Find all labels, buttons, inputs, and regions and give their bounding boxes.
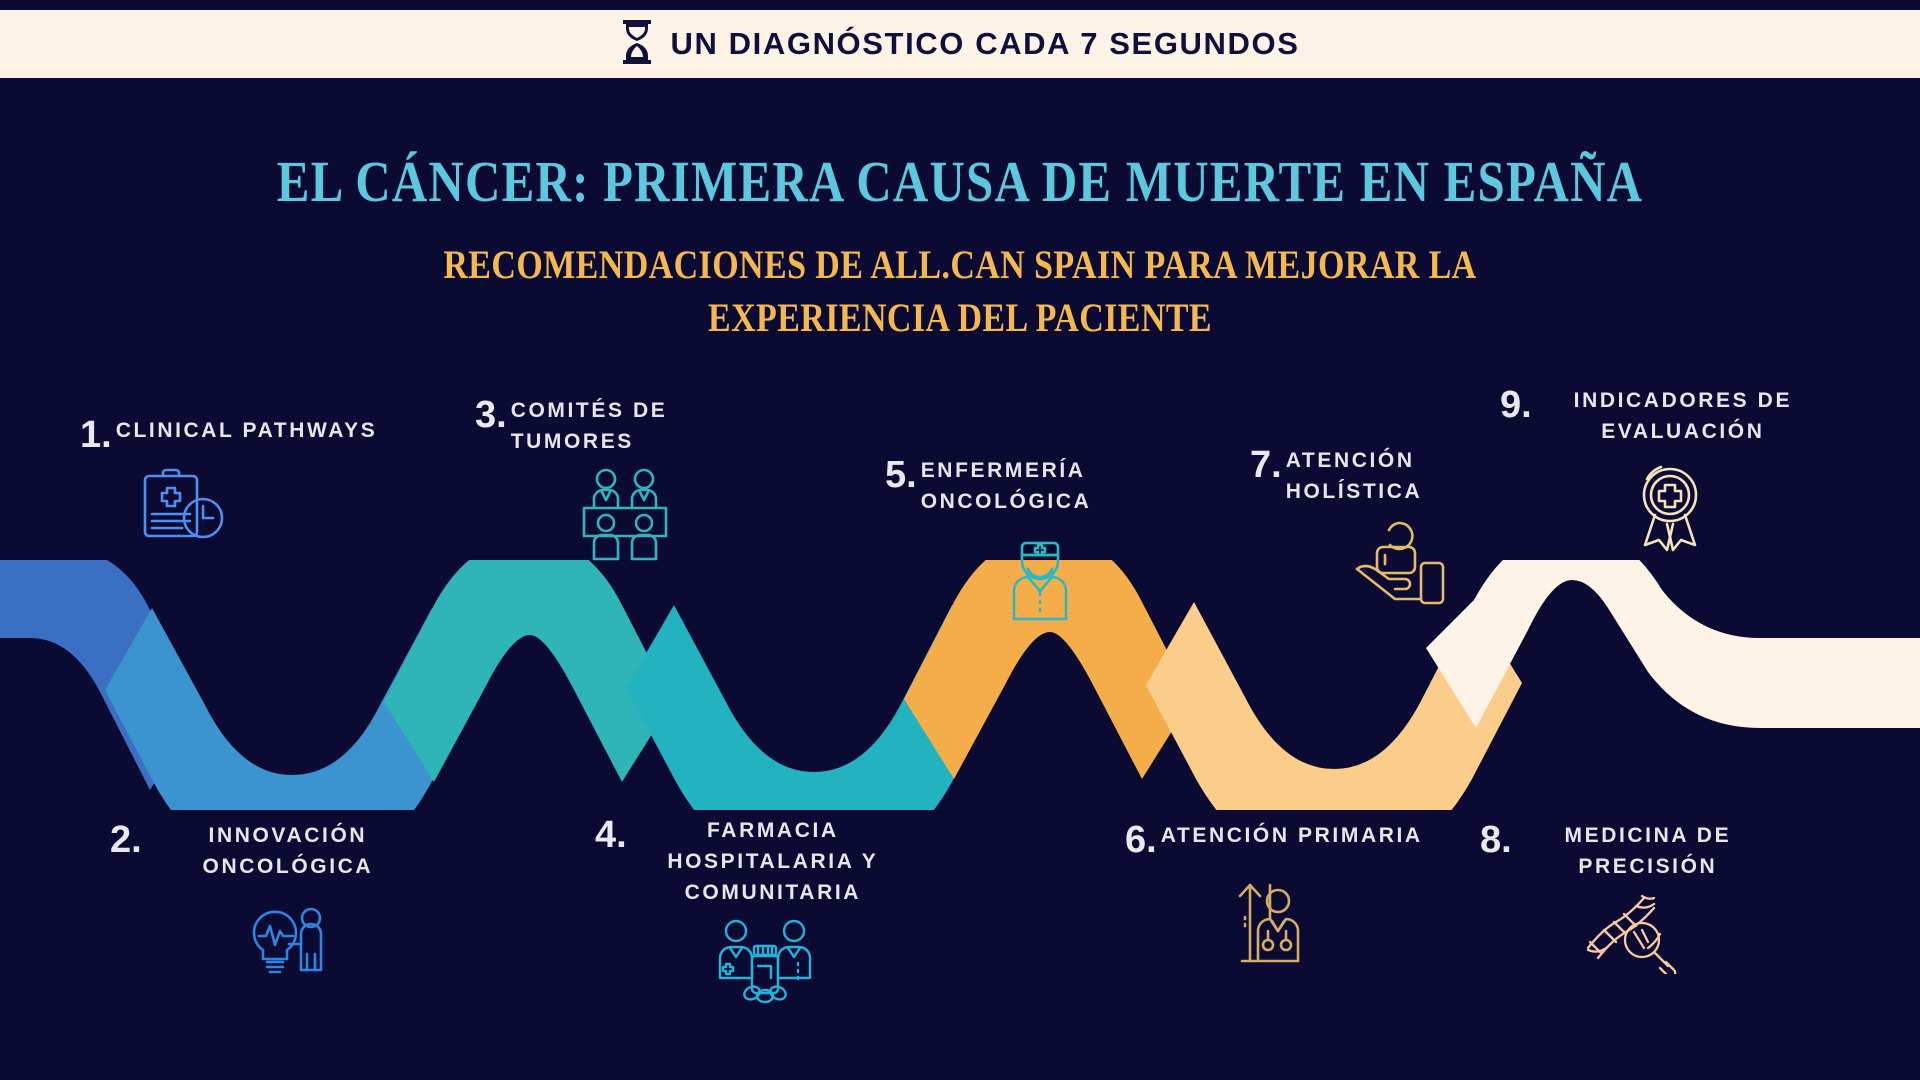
hourglass-icon xyxy=(620,19,654,70)
item-header: 2. INNOVACIÓN ONCOLÓGICA xyxy=(110,820,430,882)
top-dark-strip xyxy=(0,0,1920,10)
item-header: 1. CLINICAL PATHWAYS xyxy=(80,415,380,454)
subtitle-line-2: EXPERIENCIA DEL PACIENTE xyxy=(0,293,1920,346)
page-subtitle: RECOMENDACIONES DE ALL.CAN SPAIN PARA ME… xyxy=(0,240,1920,346)
item-number: 4. xyxy=(595,815,627,854)
item-header: 4. FARMACIA HOSPITALARIA Y COMUNITARIA xyxy=(595,815,915,908)
item-header: 7. ATENCIÓN HOLÍSTICA xyxy=(1250,445,1540,507)
item-number: 8. xyxy=(1480,820,1512,859)
wave-segment-3 xyxy=(384,560,672,782)
item-label: ENFERMERÍA ONCOLÓGICA xyxy=(917,455,1185,517)
pharmacists-pillbottle-icon xyxy=(595,918,915,1004)
item-atencion-primaria[interactable]: 6. ATENCIÓN PRIMARIA xyxy=(1125,820,1425,965)
item-label: FARMACIA HOSPITALARIA Y COMUNITARIA xyxy=(627,815,915,908)
item-innovacion-oncologica[interactable]: 2. INNOVACIÓN ONCOLÓGICA xyxy=(110,820,430,980)
item-number: 2. xyxy=(110,820,142,859)
item-header: 9. INDICADORES DE EVALUACIÓN xyxy=(1500,385,1830,447)
item-comites-de-tumores[interactable]: 3. COMITÉS DE TUMORES xyxy=(475,395,775,567)
item-number: 6. xyxy=(1125,820,1157,859)
item-label: ATENCIÓN PRIMARIA xyxy=(1157,820,1423,851)
dna-magnifier-icon xyxy=(1480,892,1780,974)
item-label: INNOVACIÓN ONCOLÓGICA xyxy=(142,820,430,882)
committee-meeting-icon xyxy=(475,467,775,567)
item-number: 1. xyxy=(80,415,112,454)
item-header: 6. ATENCIÓN PRIMARIA xyxy=(1125,820,1425,859)
hand-holding-person-icon xyxy=(1250,517,1540,605)
item-enfermeria-oncologica[interactable]: 5. ENFERMERÍA ONCOLÓGICA xyxy=(885,455,1185,621)
subtitle-line-1: RECOMENDACIONES DE ALL.CAN SPAIN PARA ME… xyxy=(0,240,1920,293)
banner-text: UN DIAGNÓSTICO CADA 7 SEGUNDOS xyxy=(670,26,1299,62)
top-banner: UN DIAGNÓSTICO CADA 7 SEGUNDOS xyxy=(0,10,1920,78)
item-indicadores-de-evaluacion[interactable]: 9. INDICADORES DE EVALUACIÓN xyxy=(1500,385,1830,553)
doctor-arrow-icon xyxy=(1125,869,1425,965)
item-number: 9. xyxy=(1500,385,1532,424)
item-number: 3. xyxy=(475,395,507,434)
item-label: INDICADORES DE EVALUACIÓN xyxy=(1532,385,1830,447)
clipboard-clock-icon xyxy=(86,464,380,544)
item-farmacia-hospitalaria[interactable]: 4. FARMACIA HOSPITALARIA Y COMUNITARIA xyxy=(595,815,915,1004)
item-number: 5. xyxy=(885,455,917,494)
item-header: 3. COMITÉS DE TUMORES xyxy=(475,395,775,457)
item-header: 5. ENFERMERÍA ONCOLÓGICA xyxy=(885,455,1185,517)
item-label: COMITÉS DE TUMORES xyxy=(507,395,775,457)
page-title: EL CÁNCER: PRIMERA CAUSA DE MUERTE EN ES… xyxy=(0,148,1920,215)
item-medicina-de-precision[interactable]: 8. MEDICINA DE PRECISIÓN xyxy=(1480,820,1780,974)
item-label: CLINICAL PATHWAYS xyxy=(112,415,378,446)
nurse-icon xyxy=(885,527,1185,621)
lightbulb-person-icon xyxy=(110,892,430,980)
item-number: 7. xyxy=(1250,445,1282,484)
award-medal-icon xyxy=(1500,457,1830,553)
item-clinical-pathways[interactable]: 1. CLINICAL PATHWAYS xyxy=(80,415,380,544)
item-atencion-holistica[interactable]: 7. ATENCIÓN HOLÍSTICA xyxy=(1250,445,1540,605)
item-header: 8. MEDICINA DE PRECISIÓN xyxy=(1480,820,1780,882)
item-label: MEDICINA DE PRECISIÓN xyxy=(1512,820,1780,882)
